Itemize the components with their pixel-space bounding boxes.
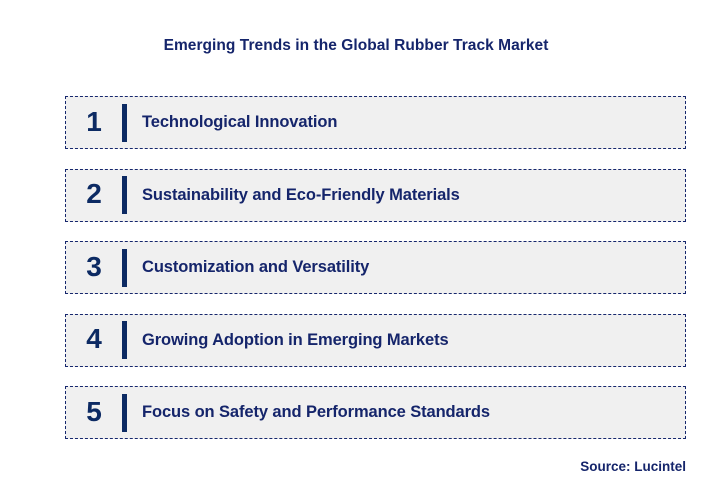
trend-rank-number: 4: [66, 325, 122, 355]
trend-label: Technological Innovation: [142, 113, 685, 132]
list-item[interactable]: 4 Growing Adoption in Emerging Markets: [65, 314, 686, 367]
divider-bar: [122, 104, 127, 142]
divider-bar: [122, 321, 127, 359]
trend-label: Sustainability and Eco-Friendly Material…: [142, 186, 685, 205]
trend-rank-number: 3: [66, 253, 122, 283]
trend-list: 1 Technological Innovation 2 Sustainabil…: [65, 96, 686, 439]
infographic-canvas: Emerging Trends in the Global Rubber Tra…: [0, 0, 712, 501]
list-item[interactable]: 3 Customization and Versatility: [65, 241, 686, 294]
divider-bar: [122, 176, 127, 214]
divider-bar: [122, 249, 127, 287]
trend-label: Focus on Safety and Performance Standard…: [142, 403, 685, 422]
trend-rank-number: 2: [66, 180, 122, 210]
trend-rank-number: 1: [66, 108, 122, 138]
trend-label: Customization and Versatility: [142, 258, 685, 277]
trend-rank-number: 5: [66, 398, 122, 428]
source-attribution: Source: Lucintel: [580, 459, 686, 474]
divider-bar: [122, 394, 127, 432]
list-item[interactable]: 1 Technological Innovation: [65, 96, 686, 149]
list-item[interactable]: 5 Focus on Safety and Performance Standa…: [65, 386, 686, 439]
page-title: Emerging Trends in the Global Rubber Tra…: [0, 37, 712, 55]
trend-label: Growing Adoption in Emerging Markets: [142, 331, 685, 350]
list-item[interactable]: 2 Sustainability and Eco-Friendly Materi…: [65, 169, 686, 222]
